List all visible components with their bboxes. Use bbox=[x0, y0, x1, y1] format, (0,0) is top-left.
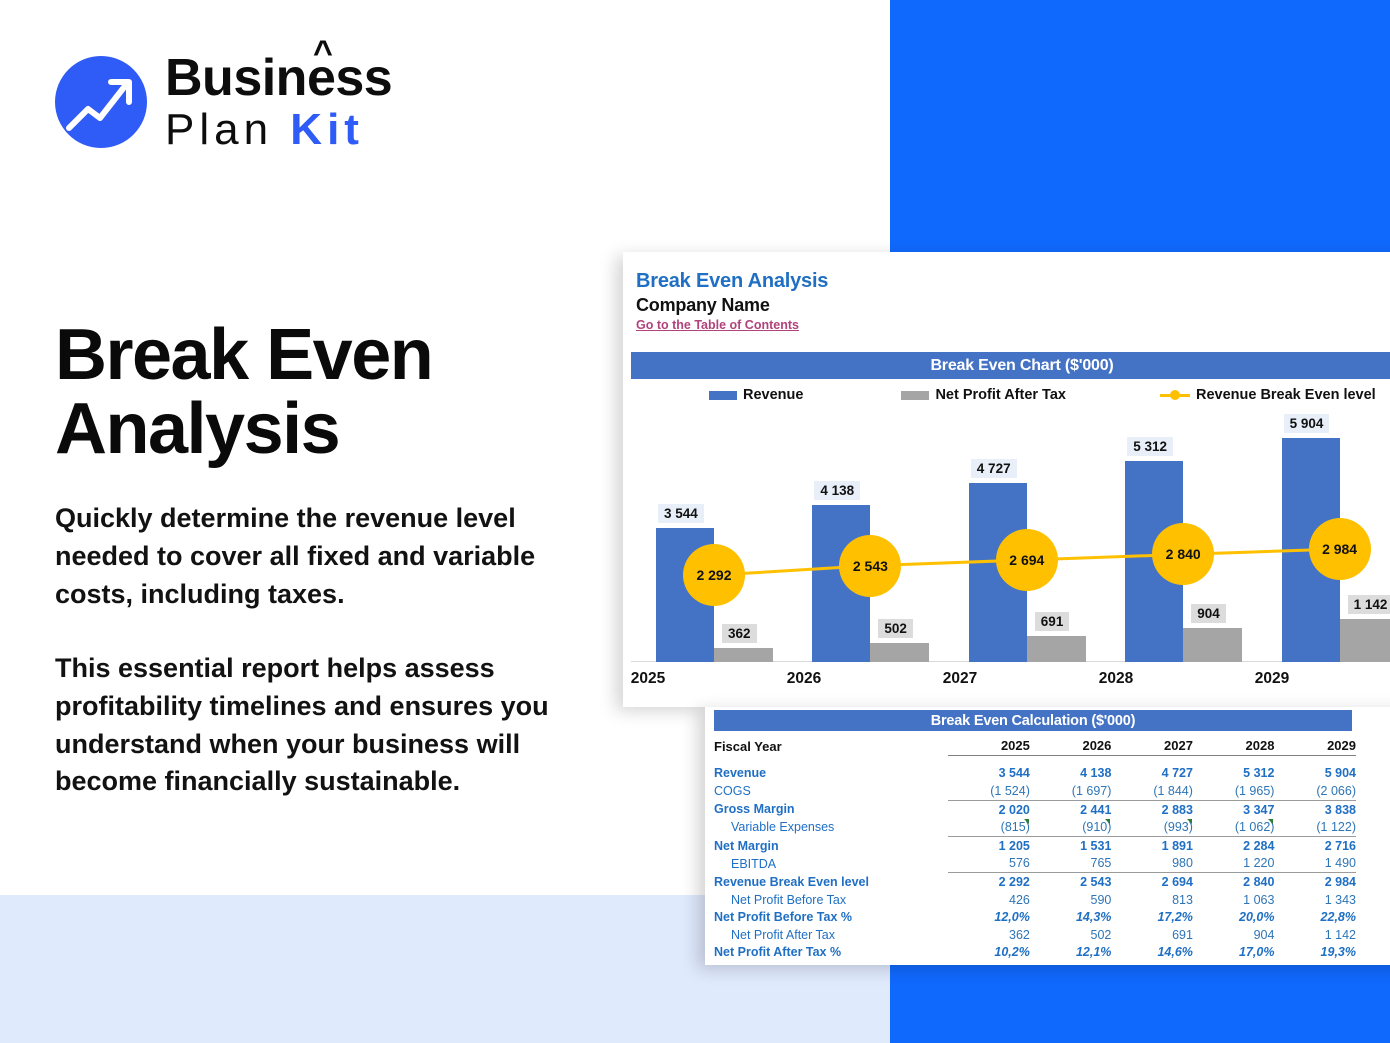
break-even-marker-2026: 2 543 bbox=[839, 535, 901, 597]
table-cell: 2 984 bbox=[1274, 873, 1356, 891]
table-cell: 2 840 bbox=[1193, 873, 1275, 891]
table-cell: 2 543 bbox=[1030, 873, 1112, 891]
table-cell: 3 544 bbox=[948, 765, 1030, 783]
calculation-table-panel: Break Even Calculation ($'000) Fiscal Ye… bbox=[705, 707, 1390, 965]
table-cell: 904 bbox=[1193, 926, 1275, 944]
table-cell: 17,2% bbox=[1111, 908, 1193, 926]
table-cell: 2 441 bbox=[1030, 800, 1112, 818]
table-cell: 765 bbox=[1030, 855, 1112, 873]
table-row-label-net-margin: Net Margin bbox=[714, 836, 948, 854]
break-even-marker-2025: 2 292 bbox=[683, 544, 745, 606]
break-even-marker-2029: 2 984 bbox=[1309, 518, 1371, 580]
x-axis-label-2028: 2028 bbox=[1056, 670, 1176, 688]
table-row-label-net-profit-after-tax: Net Profit After Tax bbox=[714, 926, 948, 944]
data-label-revenue-2028: 5 312 bbox=[1127, 437, 1173, 456]
comment-flag-icon bbox=[1105, 819, 1110, 824]
table-title-banner: Break Even Calculation ($'000) bbox=[714, 710, 1352, 731]
table-cell: 576 bbox=[948, 855, 1030, 873]
table-row: Variable Expenses(815)(910)(993)(1 062)(… bbox=[714, 818, 1356, 836]
table-cell: 590 bbox=[1030, 891, 1112, 909]
table-row: COGS(1 524)(1 697)(1 844)(1 965)(2 066) bbox=[714, 782, 1356, 800]
table-cell: 1 531 bbox=[1030, 836, 1112, 854]
brand-name-line1: Business ^ bbox=[165, 52, 392, 104]
table-row: EBITDA5767659801 2201 490 bbox=[714, 855, 1356, 873]
legend-item-break-even-level[interactable]: Revenue Break Even level bbox=[1160, 387, 1376, 403]
table-row-label-gross-margin: Gross Margin bbox=[714, 800, 948, 818]
background-block-bottom-right bbox=[890, 965, 1390, 1043]
table-header-row: Fiscal Year20252026202720282029 bbox=[714, 737, 1356, 755]
bar-net-profit-2028 bbox=[1183, 628, 1242, 662]
table-row: Net Profit After Tax %10,2%12,1%14,6%17,… bbox=[714, 944, 1356, 962]
table-cell: 17,0% bbox=[1193, 944, 1275, 962]
table-row-label-net-profit-after-tax: Net Profit After Tax % bbox=[714, 944, 948, 962]
table-cell: (1 122) bbox=[1274, 818, 1356, 836]
intro-paragraph-1: Quickly determine the revenue level need… bbox=[55, 500, 575, 613]
data-label-net-profit-2027: 691 bbox=[1035, 612, 1070, 631]
table-cell: 2 284 bbox=[1193, 836, 1275, 854]
table-cell: 20,0% bbox=[1193, 908, 1275, 926]
table-cell: 2 694 bbox=[1111, 873, 1193, 891]
table-cell: (1 844) bbox=[1111, 782, 1193, 800]
table-row: Net Margin1 2051 5311 8912 2842 716 bbox=[714, 836, 1356, 854]
table-cell: 12,1% bbox=[1030, 944, 1112, 962]
break-even-marker-2028: 2 840 bbox=[1152, 523, 1214, 585]
data-label-revenue-2026: 4 138 bbox=[814, 481, 860, 500]
table-cell: 4 727 bbox=[1111, 765, 1193, 783]
break-even-marker-2027: 2 694 bbox=[996, 529, 1058, 591]
legend-swatch-net-profit-icon bbox=[901, 391, 929, 400]
table-cell: 2 716 bbox=[1274, 836, 1356, 854]
data-label-revenue-2029: 5 904 bbox=[1284, 414, 1330, 433]
table-cell: 5 312 bbox=[1193, 765, 1275, 783]
table-header-year-2028: 2028 bbox=[1193, 737, 1275, 755]
table-row: Net Profit Before Tax %12,0%14,3%17,2%20… bbox=[714, 908, 1356, 926]
table-header-year-2026: 2026 bbox=[1030, 737, 1112, 755]
table-header-year-2029: 2029 bbox=[1274, 737, 1356, 755]
legend-swatch-revenue-icon bbox=[709, 391, 737, 400]
table-row: Gross Margin2 0202 4412 8833 3473 838 bbox=[714, 800, 1356, 818]
table-row-label-variable-expenses: Variable Expenses bbox=[714, 818, 948, 836]
bar-net-profit-2026 bbox=[870, 643, 929, 662]
table-cell: (2 066) bbox=[1274, 782, 1356, 800]
table-cell: 2 292 bbox=[948, 873, 1030, 891]
page-title: Break Even Analysis bbox=[55, 318, 575, 466]
table-row-label-ebitda: EBITDA bbox=[714, 855, 948, 873]
table-spacer-row bbox=[714, 755, 1356, 765]
break-even-calculation-table: Fiscal Year20252026202720282029Revenue3 … bbox=[714, 737, 1356, 961]
chart-title-banner: Break Even Chart ($'000) bbox=[631, 352, 1390, 379]
chart-plot-area: 3 5443622 2924 1385022 5434 7276912 6945… bbox=[631, 412, 1390, 662]
table-cell: (993) bbox=[1111, 818, 1193, 836]
table-cell: (1 965) bbox=[1193, 782, 1275, 800]
table-cell: 1 063 bbox=[1193, 891, 1275, 909]
table-row-label-net-profit-before-tax: Net Profit Before Tax % bbox=[714, 908, 948, 926]
table-row-label-cogs: COGS bbox=[714, 782, 948, 800]
sheet-title: Break Even Analysis bbox=[636, 270, 828, 293]
table-cell: 4 138 bbox=[1030, 765, 1112, 783]
data-label-net-profit-2028: 904 bbox=[1191, 604, 1226, 623]
legend-marker-line-icon bbox=[1160, 389, 1190, 401]
table-row-label-revenue: Revenue bbox=[714, 765, 948, 783]
table-cell: 14,3% bbox=[1030, 908, 1112, 926]
background-block-top-right bbox=[890, 0, 1390, 260]
table-cell: 3 838 bbox=[1274, 800, 1356, 818]
brand-name-plan: Plan bbox=[165, 105, 290, 154]
table-cell: 1 142 bbox=[1274, 926, 1356, 944]
brand-name-business: Business bbox=[165, 49, 392, 107]
table-cell: 22,8% bbox=[1274, 908, 1356, 926]
legend-label-revenue: Revenue bbox=[743, 387, 803, 403]
bar-net-profit-2025 bbox=[714, 648, 773, 662]
bar-net-profit-2029 bbox=[1340, 619, 1390, 662]
company-name: Company Name bbox=[636, 295, 770, 316]
legend-label-net-profit-after-tax: Net Profit After Tax bbox=[935, 387, 1066, 403]
table-cell: 1 343 bbox=[1274, 891, 1356, 909]
table-cell: 3 347 bbox=[1193, 800, 1275, 818]
table-row: Net Profit Before Tax4265908131 0631 343 bbox=[714, 891, 1356, 909]
table-row: Net Profit After Tax3625026919041 142 bbox=[714, 926, 1356, 944]
growth-arrow-icon bbox=[55, 56, 147, 148]
x-axis-label-2025: 2025 bbox=[588, 670, 708, 688]
chart-legend: Revenue Net Profit After Tax Revenue Bre… bbox=[631, 383, 1390, 407]
table-of-contents-link[interactable]: Go to the Table of Contents bbox=[636, 318, 799, 332]
table-cell: 1 891 bbox=[1111, 836, 1193, 854]
table-cell: (1 062) bbox=[1193, 818, 1275, 836]
table-row: Revenue3 5444 1384 7275 3125 904 bbox=[714, 765, 1356, 783]
legend-item-revenue[interactable]: Revenue bbox=[709, 387, 803, 403]
comment-flag-icon bbox=[1187, 819, 1192, 824]
table-row-label-net-profit-before-tax: Net Profit Before Tax bbox=[714, 891, 948, 909]
data-label-net-profit-2025: 362 bbox=[722, 624, 757, 643]
table-header-year-2027: 2027 bbox=[1111, 737, 1193, 755]
brand-logo: Business ^ Plan Kit bbox=[55, 52, 392, 152]
x-axis-label-2027: 2027 bbox=[900, 670, 1020, 688]
table-cell: 2 020 bbox=[948, 800, 1030, 818]
table-cell: 2 883 bbox=[1111, 800, 1193, 818]
circumflex-accent-icon: ^ bbox=[313, 36, 332, 70]
comment-flag-icon bbox=[1268, 819, 1273, 824]
data-label-net-profit-2029: 1 142 bbox=[1348, 595, 1390, 614]
table-cell: (1 697) bbox=[1030, 782, 1112, 800]
bar-net-profit-2027 bbox=[1027, 636, 1086, 662]
table-header-year-2025: 2025 bbox=[948, 737, 1030, 755]
table-cell: 19,3% bbox=[1274, 944, 1356, 962]
table-cell: (910) bbox=[1030, 818, 1112, 836]
table-cell: 813 bbox=[1111, 891, 1193, 909]
data-label-revenue-2027: 4 727 bbox=[971, 459, 1017, 478]
legend-label-break-even-level: Revenue Break Even level bbox=[1196, 387, 1376, 403]
table-cell: 12,0% bbox=[948, 908, 1030, 926]
table-header-fiscal-year: Fiscal Year bbox=[714, 737, 948, 755]
brand-name-line2: Plan Kit bbox=[165, 108, 392, 152]
table-cell: 502 bbox=[1030, 926, 1112, 944]
data-label-revenue-2025: 3 544 bbox=[658, 504, 704, 523]
table-cell: 1 490 bbox=[1274, 855, 1356, 873]
x-axis-label-2026: 2026 bbox=[744, 670, 864, 688]
comment-flag-icon bbox=[1024, 819, 1029, 824]
intro-paragraph-2: This essential report helps assess profi… bbox=[55, 650, 575, 801]
table-cell: 5 904 bbox=[1274, 765, 1356, 783]
table-cell: (815) bbox=[948, 818, 1030, 836]
data-label-net-profit-2026: 502 bbox=[878, 619, 913, 638]
legend-item-net-profit-after-tax[interactable]: Net Profit After Tax bbox=[901, 387, 1066, 403]
table-cell: 362 bbox=[948, 926, 1030, 944]
table-cell: 691 bbox=[1111, 926, 1193, 944]
chart-panel: Break Even Analysis Company Name Go to t… bbox=[623, 252, 1390, 707]
table-cell: (1 524) bbox=[948, 782, 1030, 800]
table-cell: 426 bbox=[948, 891, 1030, 909]
brand-name-kit: Kit bbox=[290, 105, 364, 154]
table-cell: 980 bbox=[1111, 855, 1193, 873]
table-row-label-revenue-break-even-level: Revenue Break Even level bbox=[714, 873, 948, 891]
table-cell: 1 205 bbox=[948, 836, 1030, 854]
x-axis-label-2029: 2029 bbox=[1212, 670, 1332, 688]
table-cell: 10,2% bbox=[948, 944, 1030, 962]
table-row: Revenue Break Even level2 2922 5432 6942… bbox=[714, 873, 1356, 891]
table-cell: 1 220 bbox=[1193, 855, 1275, 873]
table-cell: 14,6% bbox=[1111, 944, 1193, 962]
